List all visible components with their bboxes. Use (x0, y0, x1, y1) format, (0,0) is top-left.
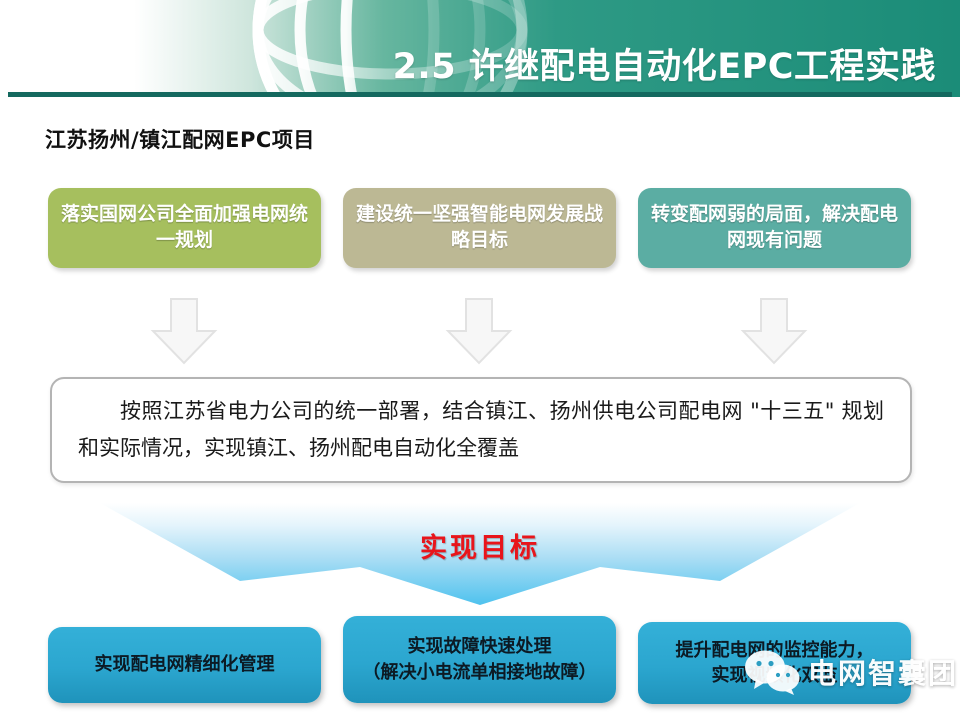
outcome-box-monitoring: 提升配电网的监控能力，实现视频化双监 (638, 622, 911, 704)
top-box-problem: 转变配网弱的局面，解决配电网现有问题 (638, 188, 911, 268)
slide-header: 2.5 许继配电自动化EPC工程实践 (0, 0, 960, 97)
outcome-box-management: 实现配电网精细化管理 (48, 627, 321, 703)
page-title: 2.5 许继配电自动化EPC工程实践 (393, 38, 936, 89)
outcome-box-fault-handling: 实现故障快速处理（解决小电流单相接地故障） (343, 616, 616, 703)
slide-canvas: 2.5 许继配电自动化EPC工程实践 江苏扬州/镇江配网EPC项目 落实国网公司… (0, 0, 960, 720)
header-divider (8, 92, 952, 97)
outcome-box-label: 实现配电网精细化管理 (95, 652, 275, 677)
arrow-down-icon (445, 297, 513, 365)
funnel-label: 实现目标 (0, 526, 960, 565)
top-box-label: 落实国网公司全面加强电网统一规划 (60, 202, 309, 253)
top-box-policy: 落实国网公司全面加强电网统一规划 (48, 188, 321, 268)
outcome-box-label: 实现故障快速处理（解决小电流单相接地故障） (363, 634, 597, 684)
statement-box: 按照江苏省电力公司的统一部署，结合镇江、扬州供电公司配电网 "十三五" 规划和实… (50, 377, 912, 483)
top-box-label: 建设统一坚强智能电网发展战略目标 (355, 202, 604, 253)
section-subtitle: 江苏扬州/镇江配网EPC项目 (45, 124, 315, 154)
outcome-box-label: 提升配电网的监控能力，实现视频化双监 (676, 638, 874, 688)
arrow-down-icon (150, 297, 218, 365)
top-box-label: 转变配网弱的局面，解决配电网现有问题 (650, 202, 899, 253)
arrow-down-icon (740, 297, 808, 365)
top-box-strategy: 建设统一坚强智能电网发展战略目标 (343, 188, 616, 268)
